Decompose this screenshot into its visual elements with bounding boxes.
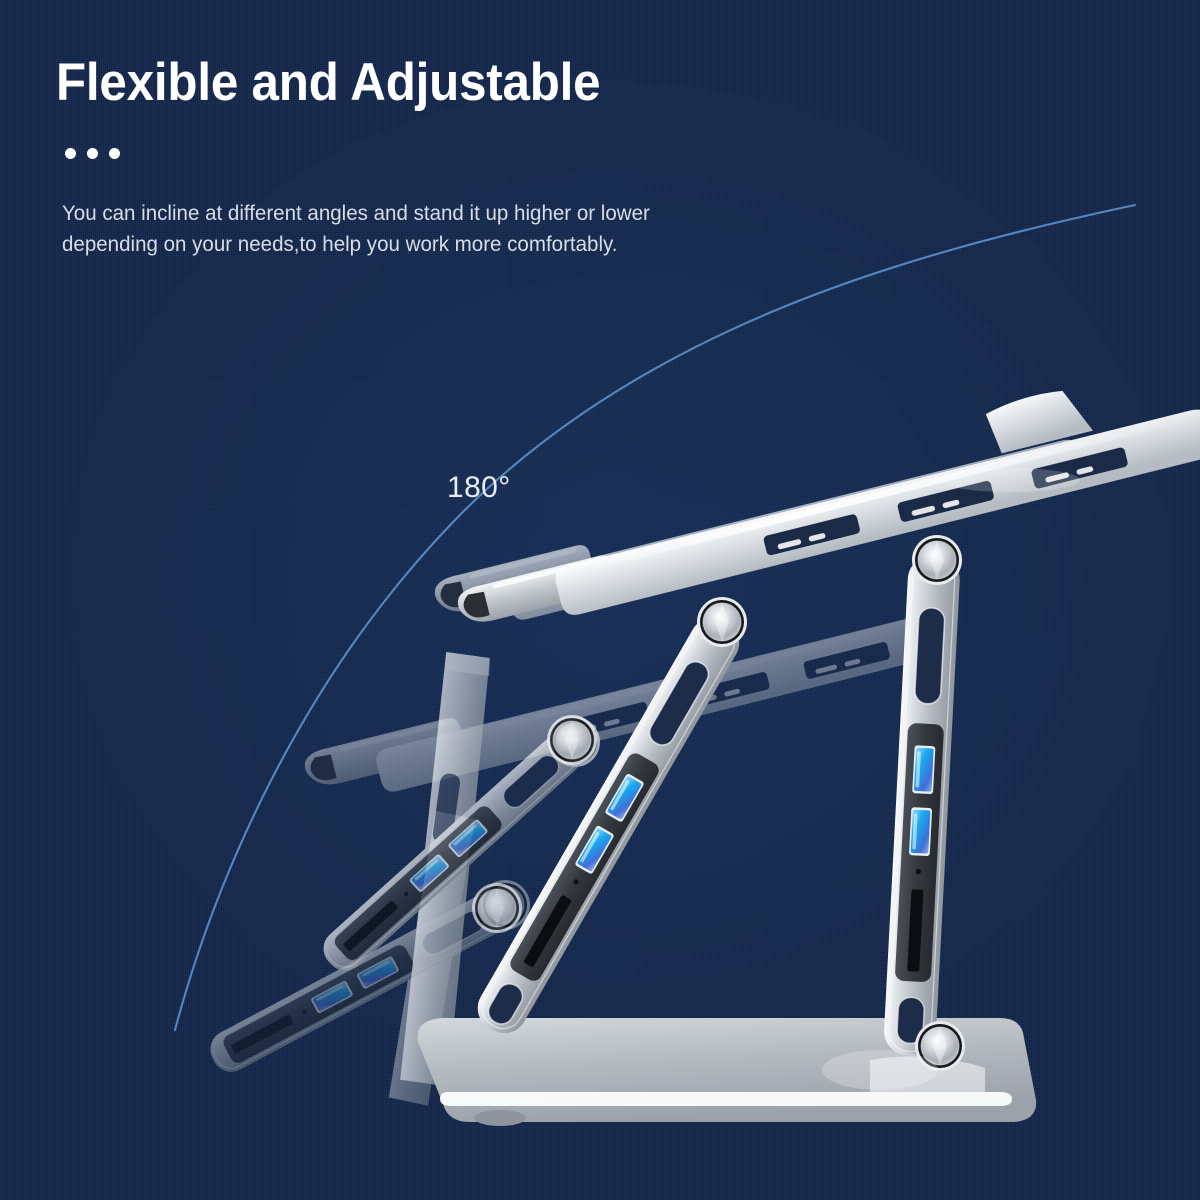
- divider-dot: [65, 148, 76, 159]
- divider-dot: [109, 148, 120, 159]
- product-feature-banner: 180° Flexible and Adjustable You can inc…: [0, 0, 1200, 1200]
- laptop-stand-illustration: [0, 0, 1200, 1200]
- title-divider-dots: [65, 148, 120, 159]
- angle-label: 180°: [447, 471, 511, 505]
- page-subtitle: You can incline at different angles and …: [62, 198, 650, 259]
- hinge-platform-rear: [912, 535, 962, 585]
- stand-top-platform: [443, 355, 1200, 642]
- page-title: Flexible and Adjustable: [56, 56, 600, 109]
- hinge-platform-front: [697, 597, 747, 647]
- hinge-mid-ghost: [547, 715, 597, 765]
- hinge-low-ghost: [472, 883, 522, 933]
- divider-dot: [87, 148, 98, 159]
